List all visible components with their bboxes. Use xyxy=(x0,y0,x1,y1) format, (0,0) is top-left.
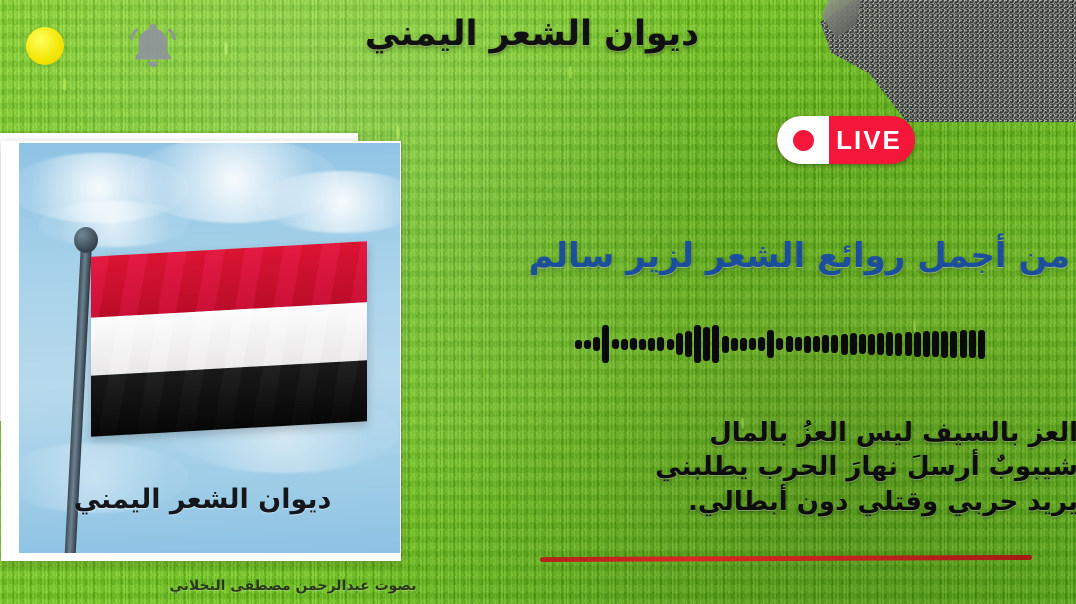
waveform-bar xyxy=(923,331,930,357)
thumbnail-photo[interactable]: ديوان الشعر اليمني xyxy=(19,143,400,553)
waveform-bar xyxy=(969,330,976,358)
video-frame: ديوان الشعر اليمني LIVE ديوان الشعر اليم… xyxy=(0,0,1076,604)
waveform-bar xyxy=(712,325,719,363)
cloud-shape xyxy=(257,171,400,233)
waveform-bar xyxy=(722,336,729,353)
notification-bell-icon xyxy=(122,16,184,78)
waveform-bar xyxy=(593,337,600,351)
poem-line: يريد حربي وقتلي دون أبطالي. xyxy=(430,485,1076,519)
audio-waveform[interactable] xyxy=(575,322,985,366)
waveform-bar xyxy=(639,339,646,350)
waveform-bar xyxy=(584,340,591,349)
flag-wave-shading xyxy=(91,241,367,436)
waveform-bar xyxy=(758,337,765,351)
poem-line: شيبوبٌ أرسلَ نهارَ الحرب يطلبني xyxy=(430,450,1076,484)
waveform-bar xyxy=(657,337,664,351)
waveform-bar xyxy=(850,333,857,355)
waveform-bar xyxy=(667,339,674,350)
waveform-bar xyxy=(950,331,957,358)
waveform-bar xyxy=(703,327,710,361)
cloud-shape xyxy=(39,201,189,247)
waveform-bar xyxy=(786,336,793,352)
yemen-flag-icon xyxy=(91,241,367,436)
page-title: ديوان الشعر اليمني xyxy=(322,14,742,54)
waveform-bar xyxy=(676,333,683,355)
waveform-bar xyxy=(822,335,829,353)
flag-pole-finial xyxy=(74,227,98,253)
waveform-bar xyxy=(859,334,866,354)
waveform-bar xyxy=(648,338,655,351)
waveform-bar xyxy=(960,330,967,358)
waveform-bar xyxy=(776,338,783,350)
waveform-bar xyxy=(694,325,701,363)
waveform-bar xyxy=(868,334,875,355)
waveform-bar xyxy=(731,338,738,351)
waveform-bar xyxy=(813,336,820,352)
poem-line: العز بالسيف ليس العزُ بالمال xyxy=(430,416,1076,450)
yellow-dot-icon xyxy=(26,27,64,65)
poem-text: العز بالسيف ليس العزُ بالمال شيبوبٌ أرسل… xyxy=(430,416,1076,519)
waveform-bar xyxy=(886,332,893,356)
waveform-bar xyxy=(831,335,838,353)
record-dot-icon xyxy=(777,116,829,164)
waveform-bar xyxy=(630,338,637,350)
headline-text: من أجمل روائع الشعر لزير سالم xyxy=(420,236,1070,277)
waveform-bar xyxy=(612,339,619,349)
waveform-bar xyxy=(905,332,912,356)
waveform-bar xyxy=(895,333,902,356)
thumbnail-caption: ديوان الشعر اليمني xyxy=(19,484,386,515)
credit-watermark: بصوت عبدالرحمن مصطفى النخلاني xyxy=(118,578,468,594)
waveform-bar xyxy=(804,336,811,353)
waveform-bar xyxy=(914,332,921,357)
waveform-bar xyxy=(767,330,774,358)
live-label: LIVE xyxy=(829,125,915,156)
waveform-bar xyxy=(795,337,802,351)
waveform-bar xyxy=(621,339,628,350)
waveform-bar xyxy=(941,331,948,358)
waveform-bar xyxy=(685,331,692,357)
waveform-bar xyxy=(602,325,609,363)
waveform-bar xyxy=(841,334,848,355)
waveform-bar xyxy=(877,333,884,355)
waveform-bar xyxy=(740,338,747,351)
waveform-bar xyxy=(978,330,985,359)
waveform-bar xyxy=(575,340,582,349)
live-badge[interactable]: LIVE xyxy=(777,116,915,164)
waveform-bar xyxy=(749,338,756,350)
waveform-bar xyxy=(932,331,939,357)
